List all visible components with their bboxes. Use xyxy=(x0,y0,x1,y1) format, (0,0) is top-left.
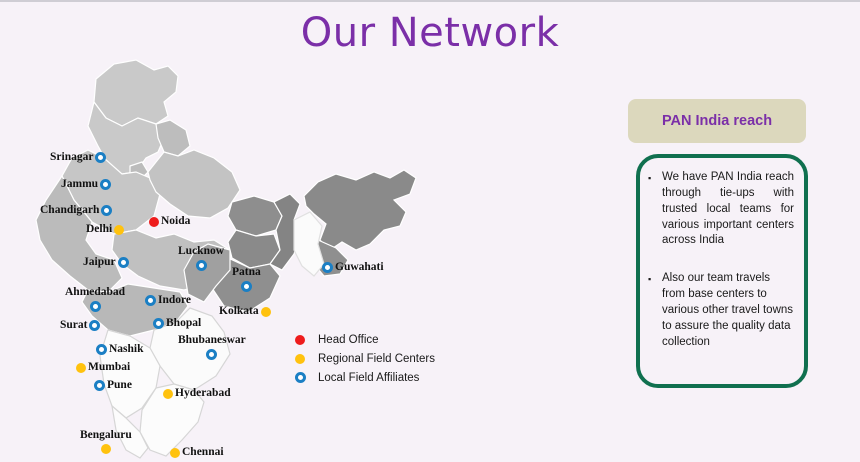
legend-label: Regional Field Centers xyxy=(310,353,435,365)
local-field-affiliate-icon xyxy=(96,344,107,355)
city-label: Lucknow xyxy=(178,246,224,260)
local-field-affiliate-icon xyxy=(206,349,217,360)
pan-india-reach-header: PAN India reach xyxy=(628,99,806,143)
city-label: Nashik xyxy=(107,344,146,356)
bullet-marker-icon: ▪ xyxy=(648,170,662,187)
bullet-item: ▪ Also our team travels from base center… xyxy=(648,271,794,350)
city-bhubaneswar[interactable]: Bhubaneswar xyxy=(178,335,246,360)
local-field-affiliate-icon xyxy=(196,260,207,271)
city-label: Patna xyxy=(232,267,261,281)
regional-field-center-icon xyxy=(170,448,180,458)
city-surat[interactable]: Surat xyxy=(58,320,100,332)
local-field-affiliate-icon xyxy=(89,320,100,331)
city-hyderabad[interactable]: Hyderabad xyxy=(163,388,233,400)
city-label: Surat xyxy=(58,320,89,332)
city-label: Jaipur xyxy=(81,257,118,269)
bullet-item: ▪ We have PAN India reach through tie-up… xyxy=(648,170,794,249)
regional-field-center-icon xyxy=(76,363,86,373)
region-uttar-pradesh xyxy=(148,150,240,218)
city-bengaluru[interactable]: Bengaluru xyxy=(80,430,132,454)
bullet-marker-icon: ▪ xyxy=(648,271,662,288)
slide-canvas: Our Network xyxy=(0,0,860,462)
local-field-affiliate-icon xyxy=(118,257,129,268)
city-jammu[interactable]: Jammu xyxy=(59,179,111,191)
pan-india-reach-body: ▪ We have PAN India reach through tie-up… xyxy=(636,154,808,388)
city-label: Srinagar xyxy=(48,152,95,164)
legend-label: Head Office xyxy=(310,334,379,346)
city-lucknow[interactable]: Lucknow xyxy=(178,246,224,271)
local-field-affiliate-icon xyxy=(90,301,101,312)
city-nashik[interactable]: Nashik xyxy=(96,344,146,356)
city-label: Bhopal xyxy=(164,318,203,330)
bullet-text: We have PAN India reach through tie-ups … xyxy=(662,170,794,249)
city-ahmedabad[interactable]: Ahmedabad xyxy=(65,287,125,312)
city-label: Delhi xyxy=(84,224,114,236)
city-noida[interactable]: Noida xyxy=(149,216,192,228)
legend-item-head-office: Head Office xyxy=(290,330,460,349)
regional-field-center-icon xyxy=(101,444,111,454)
city-label: Mumbai xyxy=(86,362,132,374)
city-label: Hyderabad xyxy=(173,388,233,400)
city-label: Noida xyxy=(159,216,192,228)
city-label: Indore xyxy=(156,295,193,307)
city-chandigarh[interactable]: Chandigarh xyxy=(38,205,112,217)
region-jammu-kashmir xyxy=(94,60,178,126)
city-guwahati[interactable]: Guwahati xyxy=(322,262,386,274)
head-office-icon xyxy=(149,217,159,227)
local-field-affiliate-icon xyxy=(153,318,164,329)
page-title: Our Network xyxy=(0,10,860,56)
city-label: Bhubaneswar xyxy=(178,335,246,349)
local-field-affiliate-icon xyxy=(290,372,310,383)
city-srinagar[interactable]: Srinagar xyxy=(48,152,106,164)
city-label: Jammu xyxy=(59,179,100,191)
legend-item-regional-field-centers: Regional Field Centers xyxy=(290,349,460,368)
regional-field-center-icon xyxy=(261,307,271,317)
local-field-affiliate-icon xyxy=(101,205,112,216)
city-label: Pune xyxy=(105,380,134,392)
legend-label: Local Field Affiliates xyxy=(310,372,419,384)
head-office-icon xyxy=(290,335,310,345)
region-uttarakhand xyxy=(156,120,190,156)
local-field-affiliate-icon xyxy=(322,262,333,273)
city-mumbai[interactable]: Mumbai xyxy=(76,362,132,374)
city-pune[interactable]: Pune xyxy=(94,380,134,392)
city-label: Chennai xyxy=(180,447,226,459)
city-jaipur[interactable]: Jaipur xyxy=(81,257,129,269)
city-patna[interactable]: Patna xyxy=(232,267,261,292)
city-bhopal[interactable]: Bhopal xyxy=(153,318,203,330)
regional-field-center-icon xyxy=(163,389,173,399)
city-label: Guwahati xyxy=(333,262,386,274)
regional-field-center-icon xyxy=(290,354,310,364)
city-label: Chandigarh xyxy=(38,205,101,217)
bullet-text: Also our team travels from base centers … xyxy=(662,271,794,350)
pan-india-reach-title: PAN India reach xyxy=(662,113,772,129)
local-field-affiliate-icon xyxy=(241,281,252,292)
local-field-affiliate-icon xyxy=(95,152,106,163)
city-label: Kolkata xyxy=(217,306,261,318)
india-map: Srinagar Jammu Chandigarh Delhi Noida Ja… xyxy=(18,54,488,462)
local-field-affiliate-icon xyxy=(94,380,105,391)
city-kolkata[interactable]: Kolkata xyxy=(217,306,271,318)
map-legend: Head Office Regional Field Centers Local… xyxy=(290,330,460,387)
city-indore[interactable]: Indore xyxy=(145,295,193,307)
local-field-affiliate-icon xyxy=(100,179,111,190)
city-chennai[interactable]: Chennai xyxy=(170,447,226,459)
local-field-affiliate-icon xyxy=(145,295,156,306)
city-delhi[interactable]: Delhi xyxy=(84,224,124,236)
regional-field-center-icon xyxy=(114,225,124,235)
city-label: Ahmedabad xyxy=(65,287,125,301)
city-label: Bengaluru xyxy=(80,430,132,444)
region-northeast xyxy=(304,170,416,250)
legend-item-local-field-affiliates: Local Field Affiliates xyxy=(290,368,460,387)
